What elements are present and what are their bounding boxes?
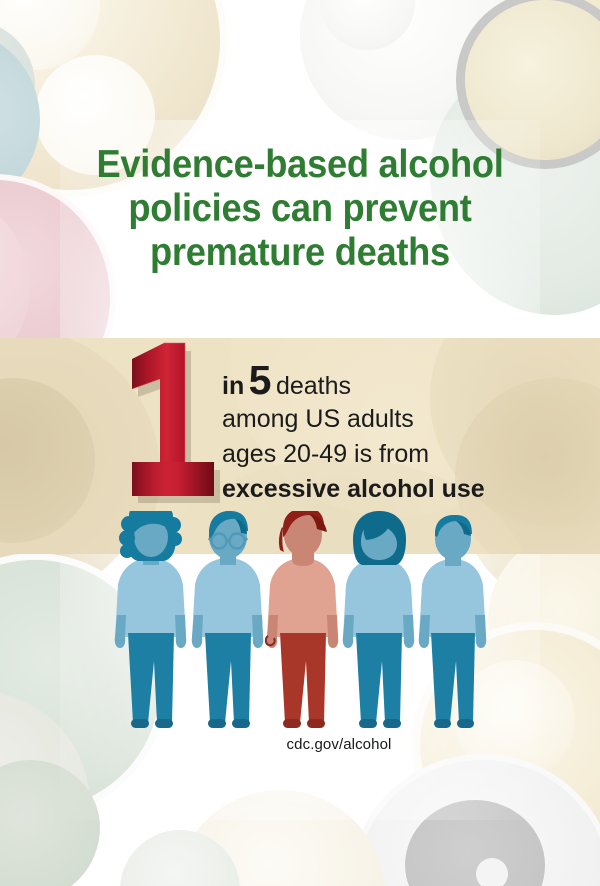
- statistic-line-1: in 5 deaths: [222, 362, 552, 402]
- statistic-in-word: in: [222, 372, 244, 400]
- person-short-hair: [419, 515, 487, 728]
- statistic-line-3: ages 20-49 is from: [222, 437, 552, 472]
- bubble-gray-bottomright-dot: [476, 858, 508, 886]
- person-glasses: [192, 511, 264, 728]
- people-illustration: [112, 511, 492, 743]
- statistic-text: in 5 deaths among US adults ages 20-49 i…: [222, 362, 552, 507]
- statistic-line-4: excessive alcohol use: [222, 472, 552, 507]
- title-line-3: premature deaths: [21, 231, 579, 275]
- person-curly-hair: [115, 511, 187, 728]
- person-highlighted-red: [266, 511, 338, 728]
- statistic-five: 5: [249, 357, 272, 403]
- statistic-numeral-one: [128, 340, 223, 505]
- page-title: Evidence-based alcohol policies can prev…: [0, 143, 600, 275]
- statistic-line-2: among US adults: [222, 402, 552, 437]
- statistic-deaths-word: deaths: [276, 372, 351, 400]
- title-line-2: policies can prevent: [21, 187, 579, 231]
- person-bob-hair: [343, 511, 415, 728]
- footer-url[interactable]: cdc.gov/alcohol: [0, 736, 600, 754]
- infographic-poster: Evidence-based alcohol policies can prev…: [0, 0, 600, 886]
- footer-url-text[interactable]: cdc.gov/alcohol: [287, 736, 392, 753]
- title-line-1: Evidence-based alcohol: [21, 143, 579, 187]
